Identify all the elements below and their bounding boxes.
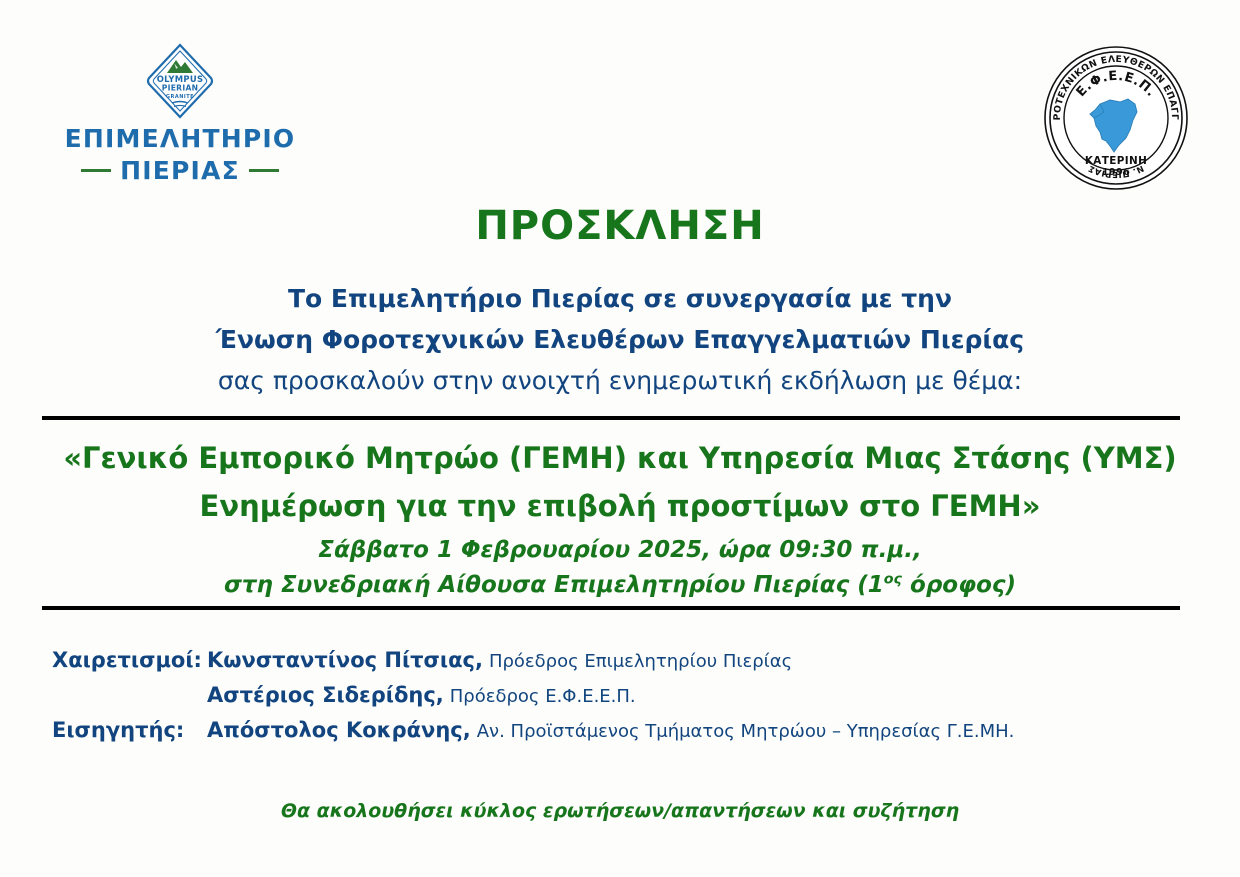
event-subject: «Γενικό Εμπορικό Μητρώο (ΓΕΜΗ) και Υπηρε… xyxy=(0,434,1240,530)
event-venue: στη Συνεδριακή Αίθουσα Επιμελητηρίου Πιε… xyxy=(0,568,1240,603)
intro-line-3: σας προσκαλούν στην ανοιχτή ενημερωτική … xyxy=(0,360,1240,401)
svg-text:PIERIAN: PIERIAN xyxy=(162,84,199,93)
venue-text-pre: στη Συνεδριακή Αίθουσα Επιμελητηρίου Πιε… xyxy=(224,572,884,598)
speaker-role: Πρόεδρος Ε.Φ.Ε.Ε.Π. xyxy=(450,686,636,707)
speaker-entry: Κωνσταντίνος Πίτσιας,Πρόεδρος Επιμελητηρ… xyxy=(207,648,792,672)
subject-line-2: Ενημέρωση για την επιβολή προστίμων στο … xyxy=(0,482,1240,530)
greetings-label: Χαιρετισμοί: xyxy=(52,648,207,672)
invitation-page: OLYMPUS PIERIAN GRANITE ΕΠΙΜΕΛΗΤΗΡΙΟ ΠΙΕ… xyxy=(0,0,1240,877)
presenter-label: Εισηγητής: xyxy=(52,718,207,742)
chamber-logo-subname-row: ΠΙΕΡΙΑΣ xyxy=(50,156,310,185)
closing-note: Θα ακολουθήσει κύκλος ερωτήσεων/απαντήσε… xyxy=(0,800,1240,822)
logo-dash-left-icon xyxy=(81,169,111,172)
svg-text:1996: 1996 xyxy=(1102,167,1130,178)
speaker-name: Κωνσταντίνος Πίτσιας, xyxy=(207,648,483,672)
list-item: Αστέριος Σιδερίδης,Πρόεδρος Ε.Φ.Ε.Ε.Π. xyxy=(52,683,1152,707)
chamber-logo-subname: ΠΙΕΡΙΑΣ xyxy=(120,156,240,185)
logo-dash-right-icon xyxy=(249,169,279,172)
speakers-list: Χαιρετισμοί: Κωνσταντίνος Πίτσιας,Πρόεδρ… xyxy=(52,648,1152,742)
subject-line-1: «Γενικό Εμπορικό Μητρώο (ΓΕΜΗ) και Υπηρε… xyxy=(0,434,1240,482)
venue-text-post: όροφος) xyxy=(902,572,1016,598)
svg-text:OLYMPUS: OLYMPUS xyxy=(157,74,204,84)
chamber-logo-name: ΕΠΙΜΕΛΗΤΗΡΙΟ xyxy=(50,126,310,152)
header: OLYMPUS PIERIAN GRANITE ΕΠΙΜΕΛΗΤΗΡΙΟ ΠΙΕ… xyxy=(0,0,1240,200)
venue-ordinal-suffix: ος xyxy=(884,571,902,587)
intro-line-1: Το Επιμελητήριο Πιερίας σε συνεργασία με… xyxy=(0,278,1240,319)
intro-paragraph: Το Επιμελητήριο Πιερίας σε συνεργασία με… xyxy=(0,278,1240,401)
event-datetime-venue: Σάββατο 1 Φεβρουαρίου 2025, ώρα 09:30 π.… xyxy=(0,533,1240,603)
list-item: Χαιρετισμοί: Κωνσταντίνος Πίτσιας,Πρόεδρ… xyxy=(52,648,1152,672)
svg-text:GRANITE: GRANITE xyxy=(166,94,194,100)
chamber-of-pieria-logo: OLYMPUS PIERIAN GRANITE ΕΠΙΜΕΛΗΤΗΡΙΟ ΠΙΕ… xyxy=(50,42,310,185)
divider-top xyxy=(42,416,1180,420)
list-item: Εισηγητής: Απόστολος Κοκράνης,Αν. Προϊστ… xyxy=(52,718,1152,742)
speaker-name: Αστέριος Σιδερίδης, xyxy=(207,683,444,707)
speaker-entry: Απόστολος Κοκράνης,Αν. Προϊστάμενος Τμήμ… xyxy=(207,718,1014,742)
speaker-name: Απόστολος Κοκράνης, xyxy=(207,718,471,742)
event-datetime: Σάββατο 1 Φεβρουαρίου 2025, ώρα 09:30 π.… xyxy=(0,533,1240,568)
olympus-pierian-granite-emblem-icon: OLYMPUS PIERIAN GRANITE xyxy=(145,42,215,120)
svg-text:ΚΑΤΕΡΙΝΗ: ΚΑΤΕΡΙΝΗ xyxy=(1085,155,1147,167)
speaker-role: Πρόεδρος Επιμελητηρίου Πιερίας xyxy=(489,651,792,672)
intro-line-2: Ένωση Φοροτεχνικών Ελευθέρων Επαγγελματι… xyxy=(0,319,1240,360)
divider-bottom xyxy=(42,606,1180,610)
speaker-entry: Αστέριος Σιδερίδης,Πρόεδρος Ε.Φ.Ε.Ε.Π. xyxy=(207,683,636,707)
speaker-role: Αν. Προϊστάμενος Τμήματος Μητρώου – Υπηρ… xyxy=(477,721,1015,742)
efeep-seal-logo: ΕΝΩΣΗ ΦΟΡΟΤΕΧΝΙΚΩΝ ΕΛΕΥΘΕΡΩΝ ΕΠΑΓΓΕΛΜΑΤΙ… xyxy=(1040,42,1192,194)
page-title: ΠΡΟΣΚΛΗΣΗ xyxy=(0,203,1240,249)
